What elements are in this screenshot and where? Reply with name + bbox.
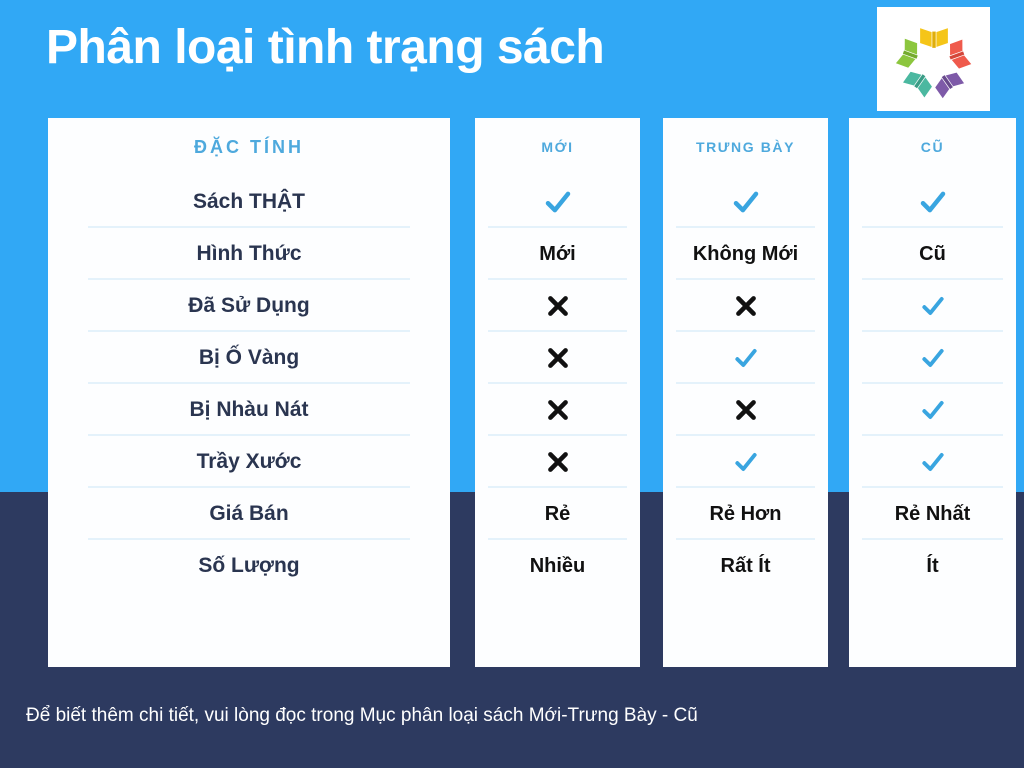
feature-label: Đã Sử Dụng xyxy=(188,294,309,318)
table-row xyxy=(475,384,640,436)
cell-value-moi: Mới xyxy=(539,243,575,266)
cross-icon xyxy=(733,397,759,423)
cell-value-trungbay: Rẻ Hơn xyxy=(709,503,781,526)
table-row: Ít xyxy=(849,540,1016,592)
check-icon xyxy=(920,397,946,423)
page-header: Phân loại tình trạng sách xyxy=(0,0,1024,118)
check-icon xyxy=(733,345,759,371)
footer-note: Để biết thêm chi tiết, vui lòng đọc tron… xyxy=(26,705,698,727)
column-card-moi: MỚI MớiRẻNhiều xyxy=(475,118,640,667)
check-icon xyxy=(920,293,946,319)
table-row: Cũ xyxy=(849,228,1016,280)
table-row: Rẻ Nhất xyxy=(849,488,1016,540)
cell-value-trungbay: Không Mới xyxy=(693,243,798,266)
column-card-trungbay: TRƯNG BÀY Không MớiRẻ HơnRất Ít xyxy=(663,118,828,667)
feature-label: Trầy Xước xyxy=(197,450,302,474)
cell-value-cu: Cũ xyxy=(919,243,946,266)
check-icon xyxy=(733,449,759,475)
table-row: Rẻ Hơn xyxy=(663,488,828,540)
column-header-cu: CŨ xyxy=(849,118,1016,176)
cross-icon xyxy=(733,293,759,319)
table-row xyxy=(849,176,1016,228)
table-row: Mới xyxy=(475,228,640,280)
cross-icon xyxy=(545,449,571,475)
check-icon xyxy=(918,187,948,217)
check-icon xyxy=(731,187,761,217)
cross-icon xyxy=(545,397,571,423)
table-row xyxy=(663,384,828,436)
cross-icon xyxy=(545,293,571,319)
feature-label: Giá Bán xyxy=(209,502,288,526)
feature-label: Bị Ố Vàng xyxy=(199,346,299,370)
table-row xyxy=(849,280,1016,332)
table-row: Giá Bán xyxy=(48,488,450,540)
book-condition-comparison-table: ĐẶC TÍNH Sách THẬTHình ThứcĐã Sử DụngBị … xyxy=(0,118,1024,667)
table-row xyxy=(849,384,1016,436)
cross-icon xyxy=(545,345,571,371)
five-books-logo-icon xyxy=(891,17,977,101)
cell-value-moi: Rẻ xyxy=(545,503,571,526)
column-card-cu: CŨ CũRẻ NhấtÍt xyxy=(849,118,1016,667)
feature-label: Hình Thức xyxy=(196,242,301,266)
table-row: Rất Ít xyxy=(663,540,828,592)
table-row: Nhiều xyxy=(475,540,640,592)
page-title: Phân loại tình trạng sách xyxy=(46,20,604,75)
cell-value-moi: Nhiều xyxy=(530,555,586,578)
table-row: Trầy Xước xyxy=(48,436,450,488)
trungbay-rows: Không MớiRẻ HơnRất Ít xyxy=(663,176,828,592)
check-icon xyxy=(920,345,946,371)
column-card-feature: ĐẶC TÍNH Sách THẬTHình ThứcĐã Sử DụngBị … xyxy=(48,118,450,667)
table-row: Bị Ố Vàng xyxy=(48,332,450,384)
table-row xyxy=(475,436,640,488)
table-row: Không Mới xyxy=(663,228,828,280)
table-row: Đã Sử Dụng xyxy=(48,280,450,332)
table-row xyxy=(663,332,828,384)
feature-rows: Sách THẬTHình ThứcĐã Sử DụngBị Ố VàngBị … xyxy=(48,176,450,592)
moi-rows: MớiRẻNhiều xyxy=(475,176,640,592)
table-row xyxy=(475,176,640,228)
feature-label: Bị Nhàu Nát xyxy=(189,398,308,422)
cell-value-cu: Rẻ Nhất xyxy=(895,503,971,526)
table-row: Số Lượng xyxy=(48,540,450,592)
cu-rows: CũRẻ NhấtÍt xyxy=(849,176,1016,592)
column-header-feature: ĐẶC TÍNH xyxy=(48,118,450,176)
table-row xyxy=(475,280,640,332)
table-row: Rẻ xyxy=(475,488,640,540)
five-books-logo xyxy=(877,7,990,111)
feature-label: Sách THẬT xyxy=(193,190,305,214)
table-row xyxy=(475,332,640,384)
table-row xyxy=(663,176,828,228)
table-row: Hình Thức xyxy=(48,228,450,280)
cell-value-cu: Ít xyxy=(926,555,938,578)
check-icon xyxy=(543,187,573,217)
feature-label: Số Lượng xyxy=(198,554,299,578)
column-header-trungbay: TRƯNG BÀY xyxy=(663,118,828,176)
table-row xyxy=(849,332,1016,384)
table-row xyxy=(663,436,828,488)
check-icon xyxy=(920,449,946,475)
table-row: Sách THẬT xyxy=(48,176,450,228)
table-row: Bị Nhàu Nát xyxy=(48,384,450,436)
column-header-moi: MỚI xyxy=(475,118,640,176)
cell-value-trungbay: Rất Ít xyxy=(721,555,771,578)
table-row xyxy=(663,280,828,332)
table-row xyxy=(849,436,1016,488)
